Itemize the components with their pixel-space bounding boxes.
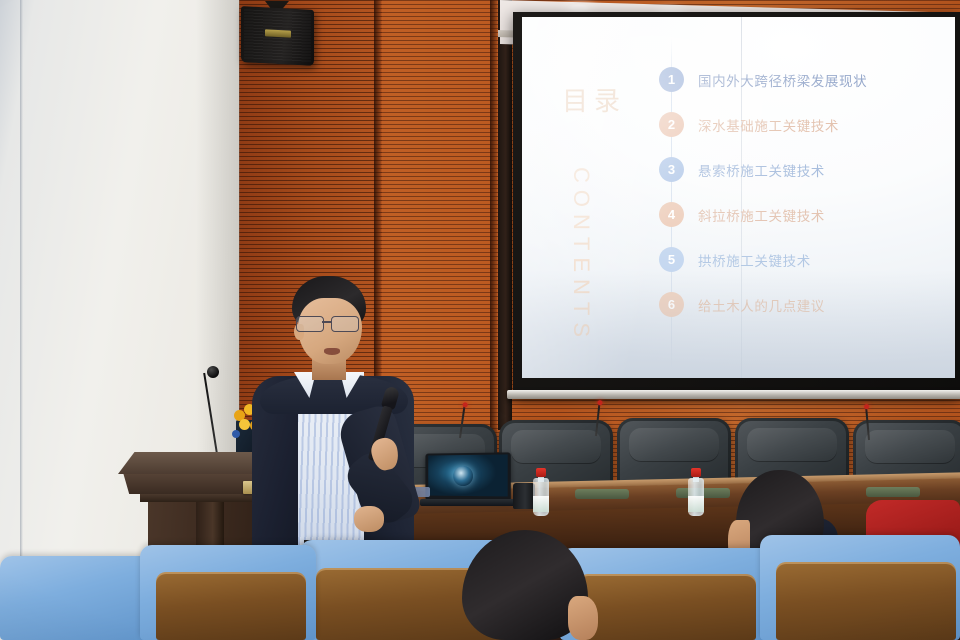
projection-screen: 目录 CONTENTS 1 国内外大跨径桥梁发展现状 2 深水基础施工关键技术 … [513, 12, 960, 396]
toc-item: 2 深水基础施工关键技术 [522, 110, 955, 155]
toc-label-4: 斜拉桥施工关键技术 [698, 205, 825, 225]
audience-seat-back-wood [156, 572, 306, 640]
audience-ear-foreground [568, 596, 598, 640]
toc-bullet-5: 5 [659, 247, 684, 272]
toc-item: 4 斜拉桥施工关键技术 [522, 200, 955, 245]
toc-item: 6 给土木人的几点建议 [522, 290, 955, 335]
lecture-hall-scene: 目录 CONTENTS 1 国内外大跨径桥梁发展现状 2 深水基础施工关键技术 … [0, 0, 960, 640]
bottle-cap [691, 468, 701, 477]
table-cloth-item [866, 487, 920, 497]
toc-label-5: 拱桥施工关键技术 [698, 250, 811, 270]
wall-panel-edge [20, 0, 23, 640]
toc-label-1: 国内外大跨径桥梁发展现状 [698, 70, 867, 90]
bottle-label [688, 496, 704, 512]
toc-bullet-4: 4 [659, 202, 684, 227]
toc-label-6: 给土木人的几点建议 [698, 295, 825, 315]
flower-petal [232, 430, 240, 438]
toc-item: 1 国内外大跨径桥梁发展现状 [522, 65, 955, 110]
toc-item: 5 拱桥施工关键技术 [522, 245, 955, 290]
water-bottle [533, 468, 549, 516]
left-hand [354, 506, 384, 532]
screen-surface: 目录 CONTENTS 1 国内外大跨径桥梁发展现状 2 深水基础施工关键技术 … [522, 17, 955, 378]
audience-seat-back-wood [776, 562, 956, 640]
laptop-wallpaper-orb [453, 466, 473, 486]
wall-speaker [241, 6, 314, 66]
glasses-lens-right [331, 316, 359, 332]
eyeglasses-icon [296, 316, 364, 331]
toc-list: 1 国内外大跨径桥梁发展现状 2 深水基础施工关键技术 3 悬索桥施工关键技术 … [522, 65, 955, 335]
laptop-lid [425, 452, 510, 501]
bottle-label [533, 496, 549, 512]
podium-microphone-head [207, 366, 219, 378]
toc-label-2: 深水基础施工关键技术 [698, 115, 839, 135]
laptop-screen [428, 454, 507, 496]
presenter [246, 276, 422, 576]
audience-seat-back-wood [578, 574, 756, 640]
bottle-cap [536, 468, 546, 477]
toc-bullet-6: 6 [659, 292, 684, 317]
water-bottle [688, 468, 704, 516]
open-laptop[interactable] [424, 453, 510, 501]
toc-item: 3 悬索桥施工关键技术 [522, 155, 955, 200]
dark-pillar [498, 0, 512, 430]
desk-cup [513, 483, 535, 509]
toc-label-3: 悬索桥施工关键技术 [698, 160, 825, 180]
table-cloth-item [575, 489, 629, 499]
glasses-lens-left [296, 316, 324, 332]
presentation-slide: 目录 CONTENTS 1 国内外大跨径桥梁发展现状 2 深水基础施工关键技术 … [522, 17, 955, 378]
screen-bottom-bar [507, 390, 960, 399]
mouth [324, 348, 340, 355]
speaker-brand-badge [265, 29, 291, 37]
toc-bullet-1: 1 [659, 67, 684, 92]
toc-bullet-2: 2 [659, 112, 684, 137]
toc-bullet-3: 3 [659, 157, 684, 182]
laptop-base [420, 499, 516, 506]
glasses-bridge [322, 321, 331, 323]
